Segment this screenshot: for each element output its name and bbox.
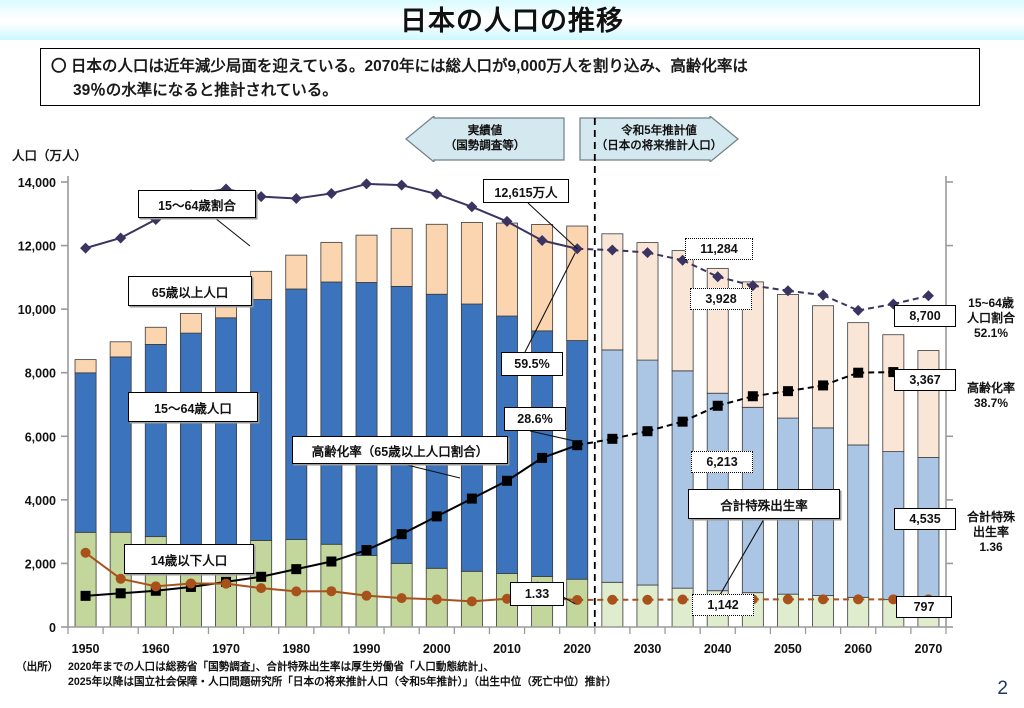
- svg-text:2070: 2070: [915, 642, 943, 656]
- callout-elderly-pop: 65歳以上人口: [128, 276, 252, 306]
- svg-text:2,000: 2,000: [25, 557, 56, 571]
- banner-projection-label: 令和5年推計値 （日本の将来推計人口）: [596, 124, 723, 154]
- callout-elderly-2070: 3,367: [894, 369, 956, 391]
- side-label-fertility: 合計特殊 出生率 1.36: [958, 510, 1024, 555]
- svg-text:6,000: 6,000: [25, 430, 56, 444]
- side-working-ratio-line1: 15~64歳: [958, 296, 1024, 311]
- callout-fertility: 合計特殊出生率: [688, 489, 840, 519]
- callout-total-2070: 8,700: [894, 305, 956, 327]
- svg-text:4,000: 4,000: [25, 494, 56, 508]
- svg-text:2010: 2010: [493, 642, 521, 656]
- callout-working-2070: 4,535: [894, 508, 956, 530]
- svg-text:1990: 1990: [353, 642, 381, 656]
- footnote-tag: （出所）: [16, 660, 68, 675]
- callout-working-ratio-2020: 59.5%: [501, 352, 563, 376]
- svg-text:2040: 2040: [704, 642, 732, 656]
- svg-text:12,000: 12,000: [18, 240, 56, 254]
- callout-working-pop: 15〜64歳人口: [128, 392, 258, 422]
- callout-total-2040: 11,284: [685, 238, 753, 260]
- banner-projection-line1: 令和5年推計値: [596, 124, 723, 139]
- svg-text:2030: 2030: [634, 642, 662, 656]
- side-fertility-line1: 合計特殊: [958, 510, 1024, 525]
- banner-actual-line2: （国勢調査等）: [445, 139, 526, 154]
- callout-young-pop: 14歳以下人口: [124, 544, 254, 574]
- x-axis-labels: 1950196019701980199020002010202020302040…: [72, 642, 943, 656]
- callout-young-2070: 797: [896, 596, 952, 618]
- svg-text:8,000: 8,000: [25, 367, 56, 381]
- svg-text:14,000: 14,000: [18, 176, 56, 190]
- side-aging-rate-line1: 高齢化率: [958, 381, 1024, 396]
- page-number: 2: [997, 678, 1008, 700]
- side-working-ratio-line2: 人口割合: [958, 311, 1024, 326]
- svg-text:1970: 1970: [212, 642, 240, 656]
- banner-actual-line1: 実績値: [445, 124, 526, 139]
- callout-aging-rate: 高齢化率（65歳以上人口割合）: [292, 436, 508, 464]
- side-fertility-value: 1.36: [958, 540, 1024, 555]
- svg-text:2060: 2060: [844, 642, 872, 656]
- svg-text:1980: 1980: [282, 642, 310, 656]
- callout-fertility-2020: 1.33: [510, 582, 564, 606]
- callout-working-ratio: 15〜64歳割合: [138, 190, 256, 218]
- svg-text:1950: 1950: [72, 642, 100, 656]
- svg-text:2020: 2020: [563, 642, 591, 656]
- callout-elderly-2040: 3,928: [690, 288, 752, 310]
- y-axis-labels: 02,0004,0006,0008,00010,00012,00014,000: [18, 176, 56, 635]
- footnote: （出所）2020年までの人口は総務省「国勢調査」、合計特殊出生率は厚生労働省「人…: [16, 660, 976, 690]
- callout-total-2020: 12,615万人: [483, 179, 569, 203]
- side-label-aging-rate: 高齢化率 38.7%: [958, 381, 1024, 411]
- footnote-line-1: 2020年までの人口は総務省「国勢調査」、合計特殊出生率は厚生労働省「人口動態統…: [68, 661, 494, 673]
- callout-young-2040: 1,142: [692, 594, 754, 616]
- banner-actual-label: 実績値 （国勢調査等）: [445, 124, 526, 154]
- callout-working-2040: 6,213: [691, 451, 753, 473]
- callout-aging-rate-2020: 28.6%: [504, 407, 566, 431]
- slide: 日本の人口の推移 〇 日本の人口は近年減少局面を迎えている。2070年には総人口…: [0, 0, 1024, 708]
- svg-text:1960: 1960: [142, 642, 170, 656]
- side-working-ratio-value: 52.1%: [958, 326, 1024, 341]
- side-aging-rate-value: 38.7%: [958, 396, 1024, 411]
- svg-text:10,000: 10,000: [18, 303, 56, 317]
- banner-projection-line2: （日本の将来推計人口）: [596, 139, 723, 154]
- svg-text:0: 0: [49, 621, 56, 635]
- svg-text:2000: 2000: [423, 642, 451, 656]
- side-fertility-line2: 出生率: [958, 525, 1024, 540]
- svg-text:2050: 2050: [774, 642, 802, 656]
- footnote-line-2: 2025年以降は国立社会保障・人口問題研究所「日本の将来推計人口（令和5年推計）…: [16, 675, 976, 690]
- side-label-working-ratio: 15~64歳 人口割合 52.1%: [958, 296, 1024, 341]
